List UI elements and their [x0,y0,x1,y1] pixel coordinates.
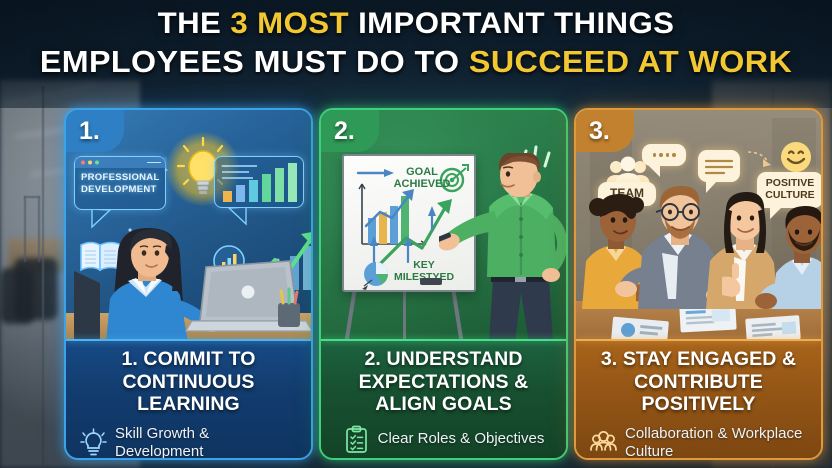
card-1-subtitle: Skill Growth & Development [115,425,297,460]
title-line1-part2: IMPORTANT THINGS [349,7,674,40]
card-2-number-badge: 2. [321,110,379,152]
title-line-1: THE 3 MOST IMPORTANT THINGS [0,6,832,43]
card-3-footer: 3. STAY ENGAGED & CONTRIBUTE POSITIVELY … [576,339,821,458]
card-1-footer-divider [66,339,311,341]
cards-container: PROFESSIONALDEVELOPMENT [0,108,832,460]
collaborating-team [576,149,821,309]
title-line-2: EMPLOYEES MUST DO TO SUCCEED AT WORK [0,43,832,81]
title-line1-highlight: 3 MOST [230,7,349,40]
card-2-footer-divider [321,339,566,341]
bar-chart-bubble [214,156,304,208]
title-line2-highlight: SUCCEED AT WORK [469,44,792,79]
card-understand-expectations-align-goals[interactable]: GOAL ACHIEVED KEY MILESTYED [319,108,568,460]
man-presenting [439,153,566,343]
lightbulb-icon [80,428,107,457]
card-2-footer: 2. UNDERSTAND EXPECTATIONS & ALIGN GOALS… [321,339,566,458]
bubble-titlebar [75,157,167,168]
clipboard-check-icon [343,425,370,454]
people-group-icon [590,428,617,457]
card-3-heading: 3. STAY ENGAGED & CONTRIBUTE POSITIVELY [586,348,811,416]
card-1-number-badge: 1. [66,110,124,152]
woman-at-laptop [66,225,311,343]
whiteboard-leg-center [403,286,406,343]
card-1-heading: 1. COMMIT TO CONTINUOUS LEARNING [76,348,301,416]
bar-chart-icon [215,157,305,209]
title-line2-part1: EMPLOYEES MUST DO TO [40,44,469,79]
bubble-tail-right [226,207,250,227]
card-2-subtitle-row: Clear Roles & Objectives [331,425,556,454]
card-2-subtitle: Clear Roles & Objectives [378,430,545,448]
infographic-title: THE 3 MOST IMPORTANT THINGS EMPLOYEES MU… [0,6,832,80]
card-3-subtitle-row: Collaboration & Workplace Culture [586,425,811,460]
card-3-number-badge: 3. [576,110,634,152]
card-stay-engaged-contribute-positively[interactable]: TEAM [574,108,823,460]
card-3-subtitle: Collaboration & Workplace Culture [625,425,807,460]
professional-development-bubble: PROFESSIONALDEVELOPMENT [74,156,166,210]
card-3-footer-divider [576,339,821,341]
card-1-footer: 1. COMMIT TO CONTINUOUS LEARNING Skill G… [66,339,311,458]
card-commit-to-continuous-learning[interactable]: PROFESSIONALDEVELOPMENT [64,108,313,460]
title-line1-part1: THE [158,7,231,40]
card-1-subtitle-row: Skill Growth & Development [76,425,301,460]
card-2-heading: 2. UNDERSTAND EXPECTATIONS & ALIGN GOALS [331,348,556,416]
